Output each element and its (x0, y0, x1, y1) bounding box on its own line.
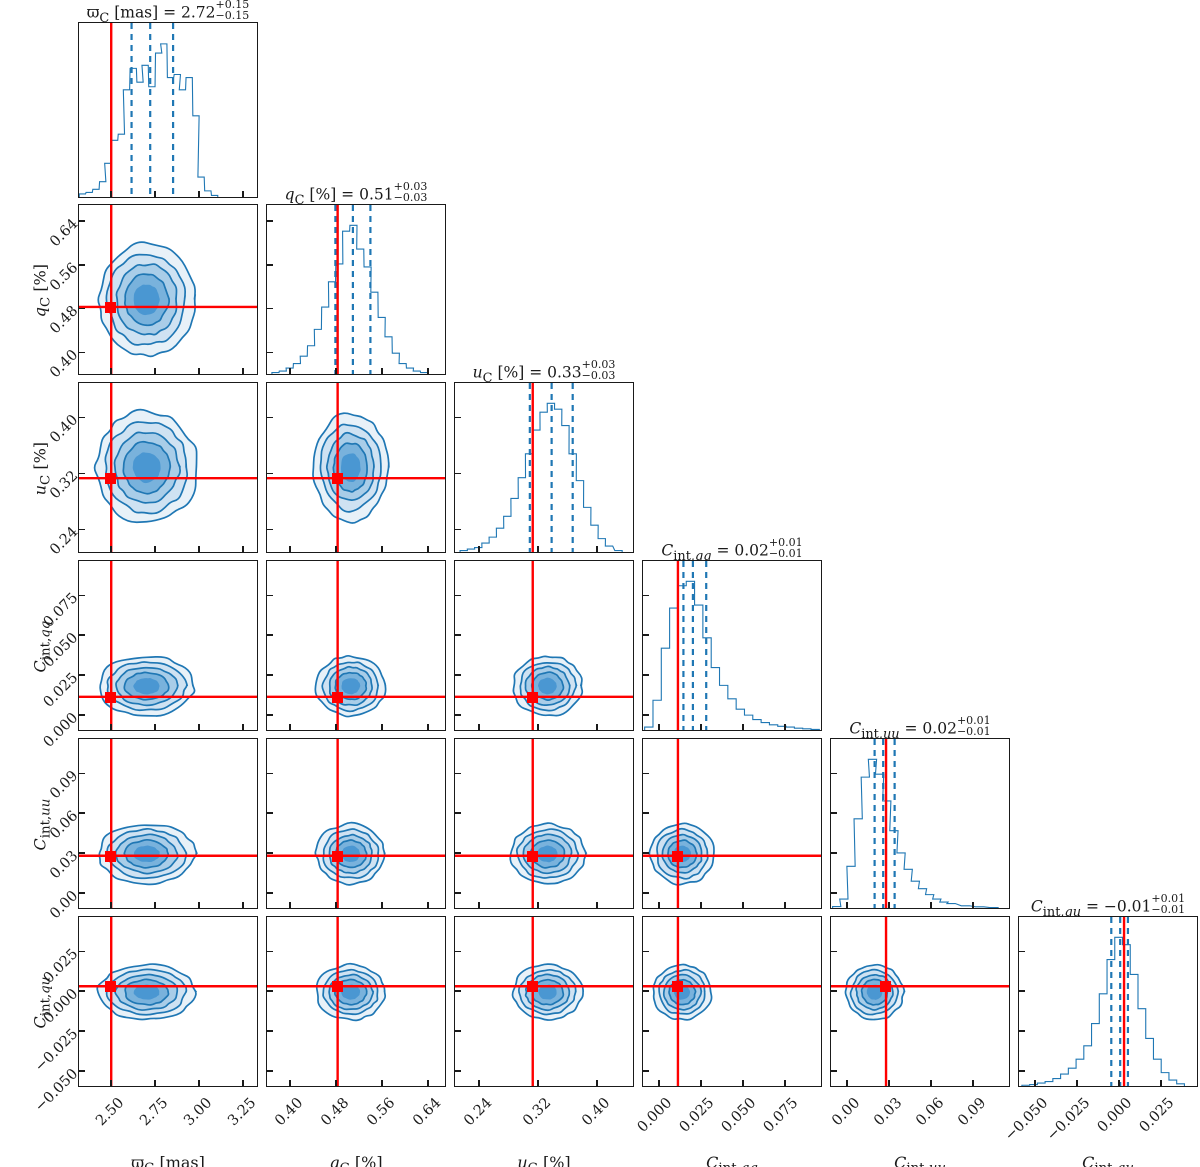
x-tickmark (596, 1080, 598, 1086)
y-tickmark (831, 1030, 837, 1032)
y-tickmark (1019, 951, 1025, 953)
y-tickmark (643, 951, 649, 953)
marginal-histogram-panel-Cqq (642, 560, 822, 731)
x-tickmark (427, 546, 429, 552)
y-axis-label-q: qC [%] (30, 210, 53, 370)
y-tickmark (455, 714, 461, 716)
y-tickmark (79, 951, 85, 953)
y-tickmark (79, 352, 85, 354)
y-tickmark (267, 852, 273, 854)
x-tickmark (537, 724, 539, 730)
x-tickmark (700, 902, 702, 908)
y-tickmark (643, 595, 649, 597)
x-tickmark (335, 546, 337, 552)
marginal-histogram-panel-Cuu (830, 738, 1010, 909)
joint-contour-panel-varpi-vs-Cuu (78, 738, 258, 909)
x-tickmark (972, 902, 974, 908)
x-tickmark (930, 1080, 932, 1086)
x-tickmark (289, 1080, 291, 1086)
x-tickmark (198, 368, 200, 374)
y-tickmark (643, 892, 649, 894)
joint-contour-panel-Cuu-vs-Cqu (830, 916, 1010, 1087)
x-tickmark (242, 546, 244, 552)
y-tickmark (79, 529, 85, 531)
y-tickmark (267, 417, 273, 419)
y-tickmark (1019, 1070, 1025, 1072)
y-tickmark (831, 1070, 837, 1072)
y-axis-label-Cqq: Cint,qq (30, 566, 53, 726)
y-tickmark (267, 264, 273, 266)
x-tickmark (427, 368, 429, 374)
x-tickmark (381, 546, 383, 552)
y-tickmark (79, 773, 85, 775)
x-tickmark (381, 368, 383, 374)
x-tickmark (154, 902, 156, 908)
y-tickmark (267, 529, 273, 531)
x-tickmark (700, 1080, 702, 1086)
y-tickmark (455, 529, 461, 531)
x-tickmark (478, 546, 480, 552)
y-tickmark (79, 990, 85, 992)
x-tickmark (658, 1080, 660, 1086)
x-tickmark (242, 191, 244, 197)
histogram-outline (460, 403, 622, 552)
truth-marker (105, 981, 116, 992)
y-tickmark (643, 773, 649, 775)
y-tickmark (267, 220, 273, 222)
x-tickmark (154, 1080, 156, 1086)
x-tickmark (381, 1080, 383, 1086)
x-axis-label-Cqu: Cint,qu (1018, 1153, 1198, 1167)
y-tickmark (455, 1030, 461, 1032)
y-tickmark (455, 852, 461, 854)
marginal-histogram-panel-Cqu (1018, 916, 1198, 1087)
marginal-histogram-panel-q (266, 204, 446, 375)
y-tickmark (79, 264, 85, 266)
y-tickmark (831, 990, 837, 992)
joint-contour-panel-q-vs-u (266, 382, 446, 553)
x-tickmark (289, 546, 291, 552)
x-tickmark (335, 1080, 337, 1086)
marginal-histogram-panel-varpi (78, 22, 258, 198)
joint-contour-panel-varpi-vs-q (78, 204, 258, 375)
x-tickmark (110, 1080, 112, 1086)
y-tickmark (267, 990, 273, 992)
y-tickmark (267, 714, 273, 716)
x-tickmark (658, 724, 660, 730)
y-tickmark (643, 990, 649, 992)
histogram-outline (645, 581, 820, 730)
marginal-histogram-panel-u (454, 382, 634, 553)
x-tickmark (242, 902, 244, 908)
y-tickmark (267, 308, 273, 310)
y-tickmark (643, 634, 649, 636)
y-tickmark (267, 892, 273, 894)
truth-marker (527, 981, 538, 992)
y-axis-label-Cqu: Cint,qu (30, 922, 53, 1082)
x-tickmark (596, 902, 598, 908)
y-tickmark (267, 634, 273, 636)
x-tickmark (198, 546, 200, 552)
x-tickmark (478, 1080, 480, 1086)
x-tickmark (242, 1080, 244, 1086)
y-tickmark (455, 892, 461, 894)
y-tickmark (643, 812, 649, 814)
truth-marker (672, 981, 683, 992)
truth-marker (105, 851, 116, 862)
x-tickmark (888, 902, 890, 908)
x-tickmark (198, 724, 200, 730)
joint-contour-panel-Cqq-vs-Cuu (642, 738, 822, 909)
x-tickmark (537, 902, 539, 908)
y-tickmark (643, 674, 649, 676)
y-tickmark (267, 951, 273, 953)
y-tickmark (79, 473, 85, 475)
x-tickmark (784, 902, 786, 908)
x-tickmark (154, 546, 156, 552)
y-tickmark (455, 595, 461, 597)
y-axis-label-u: uC [%] (30, 388, 53, 548)
x-tickmark (742, 902, 744, 908)
x-tickmark (596, 724, 598, 730)
y-tickmark (455, 473, 461, 475)
x-tickmark (427, 1080, 429, 1086)
y-tickmark (79, 417, 85, 419)
x-tickmark (427, 902, 429, 908)
joint-contour-panel-varpi-vs-Cqq (78, 560, 258, 731)
y-tickmark (831, 812, 837, 814)
y-tickmark (79, 1070, 85, 1072)
x-tickmark (846, 1080, 848, 1086)
x-tickmark (1076, 1080, 1078, 1086)
y-axis-label-Cuu: Cint,uu (30, 744, 53, 904)
y-tickmark (79, 595, 85, 597)
x-tickmark (381, 724, 383, 730)
joint-contour-panel-u-vs-Cqq (454, 560, 634, 731)
truth-marker (105, 302, 116, 313)
y-tickmark (455, 990, 461, 992)
x-tickmark (198, 191, 200, 197)
y-tickmark (79, 892, 85, 894)
truth-marker (672, 851, 683, 862)
x-tickmark (972, 1080, 974, 1086)
truth-marker (105, 692, 116, 703)
histogram-outline (272, 225, 428, 374)
y-tickmark (1019, 1030, 1025, 1032)
histogram-outline (833, 759, 999, 908)
x-tickmark (784, 1080, 786, 1086)
y-tickmark (267, 1070, 273, 1072)
joint-contour-panel-q-vs-Cqu (266, 916, 446, 1087)
joint-contour-panel-q-vs-Cuu (266, 738, 446, 909)
x-tickmark (381, 902, 383, 908)
x-tickmark (242, 368, 244, 374)
histogram-outline (1022, 937, 1185, 1086)
y-tickmark (455, 1070, 461, 1072)
y-tickmark (643, 1030, 649, 1032)
truth-marker (332, 981, 343, 992)
y-tickmark (455, 951, 461, 953)
truth-marker (332, 473, 343, 484)
x-tickmark (1160, 1080, 1162, 1086)
x-tickmark (110, 191, 112, 197)
y-tickmark (831, 852, 837, 854)
y-tickmark (267, 773, 273, 775)
joint-contour-panel-varpi-vs-u (78, 382, 258, 553)
y-tickmark (79, 674, 85, 676)
corner-plot-figure: ϖC [mas] = 2.72+0.15−0.15qC [%] = 0.51+0… (0, 0, 1200, 1167)
y-tickmark (79, 714, 85, 716)
x-tickmark (658, 902, 660, 908)
x-tickmark (930, 902, 932, 908)
x-tickmark (537, 1080, 539, 1086)
x-tickmark (198, 1080, 200, 1086)
y-tickmark (455, 773, 461, 775)
y-tickmark (267, 595, 273, 597)
y-tickmark (79, 1030, 85, 1032)
truth-marker (332, 692, 343, 703)
y-tickmark (643, 1070, 649, 1072)
y-tickmark (831, 951, 837, 953)
truth-marker (880, 981, 891, 992)
x-tickmark (700, 724, 702, 730)
x-tickmark (742, 1080, 744, 1086)
y-tickmark (643, 852, 649, 854)
joint-contour-panel-u-vs-Cuu (454, 738, 634, 909)
x-tickmark (154, 724, 156, 730)
histogram-outline (79, 44, 218, 197)
y-tickmark (267, 1030, 273, 1032)
x-tickmark (110, 368, 112, 374)
y-tickmark (267, 473, 273, 475)
x-tickmark (888, 1080, 890, 1086)
x-tickmark (846, 902, 848, 908)
x-tickmark (1118, 1080, 1120, 1086)
x-tickmark (198, 902, 200, 908)
x-tickmark (110, 902, 112, 908)
y-tickmark (267, 674, 273, 676)
x-tickmark (154, 191, 156, 197)
x-tickmark (289, 368, 291, 374)
x-tickmark (537, 546, 539, 552)
x-tickmark (784, 724, 786, 730)
truth-marker (527, 851, 538, 862)
x-tickmark (478, 902, 480, 908)
x-tickmark (742, 724, 744, 730)
y-tickmark (79, 812, 85, 814)
x-tickmark (110, 724, 112, 730)
joint-contour-panel-u-vs-Cqu (454, 916, 634, 1087)
y-tickmark (1019, 990, 1025, 992)
y-tickmark (831, 773, 837, 775)
joint-contour-panel-Cqq-vs-Cqu (642, 916, 822, 1087)
y-tickmark (455, 634, 461, 636)
x-tickmark (335, 902, 337, 908)
x-tickmark (1034, 1080, 1036, 1086)
y-tickmark (79, 634, 85, 636)
x-tickmark (427, 724, 429, 730)
y-tickmark (643, 714, 649, 716)
joint-contour-panel-q-vs-Cqq (266, 560, 446, 731)
truth-marker (105, 473, 116, 484)
x-tickmark (154, 368, 156, 374)
y-tickmark (79, 308, 85, 310)
y-tickmark (455, 417, 461, 419)
y-tickmark (79, 220, 85, 222)
x-tickmark (242, 724, 244, 730)
y-tickmark (267, 352, 273, 354)
x-tickmark (335, 724, 337, 730)
y-tickmark (267, 812, 273, 814)
x-tickmark (478, 724, 480, 730)
truth-marker (332, 851, 343, 862)
x-tickmark (596, 546, 598, 552)
y-tickmark (455, 812, 461, 814)
y-tickmark (831, 892, 837, 894)
y-tickmark (79, 852, 85, 854)
x-tickmark (289, 724, 291, 730)
x-tickmark (289, 902, 291, 908)
x-tickmark (335, 368, 337, 374)
x-tickmark (110, 546, 112, 552)
joint-contour-panel-varpi-vs-Cqu (78, 916, 258, 1087)
truth-marker (527, 692, 538, 703)
y-tickmark (455, 674, 461, 676)
